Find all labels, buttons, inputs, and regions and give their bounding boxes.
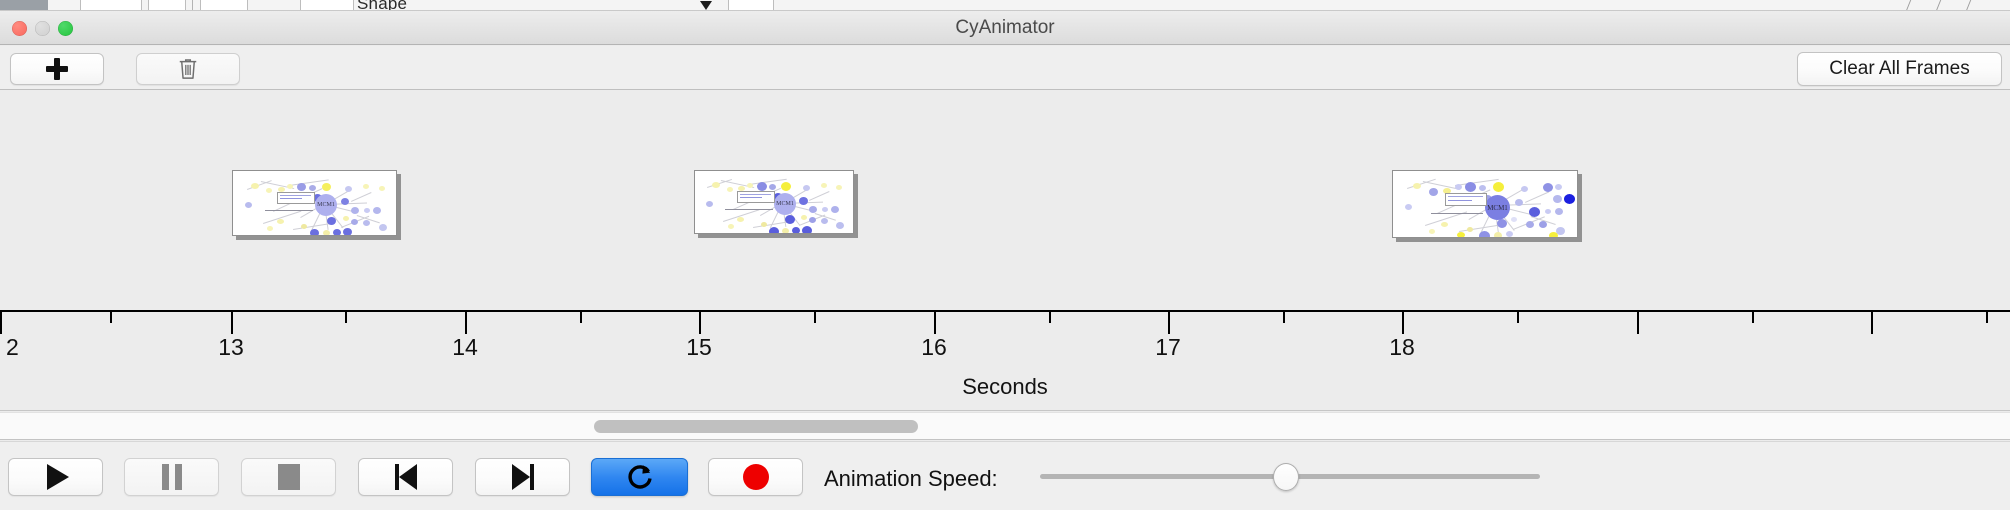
scrollbar-thumb[interactable] xyxy=(594,420,918,433)
frame-thumbnail-network-2: MCM1 xyxy=(695,171,853,233)
axis-tick-major xyxy=(699,312,701,334)
stop-button[interactable] xyxy=(241,458,336,496)
record-icon xyxy=(743,464,769,490)
axis-title: Seconds xyxy=(0,374,2010,400)
timeline-frame-1[interactable]: MCM1 xyxy=(232,170,397,236)
skip-forward-icon xyxy=(512,464,534,490)
axis-tick-minor xyxy=(1283,312,1285,323)
pause-button[interactable] xyxy=(124,458,219,496)
frame-toolbar: Clear All Frames xyxy=(0,46,2010,90)
playback-control-bar: Animation Speed: xyxy=(0,441,2010,510)
axis-tick-minor xyxy=(814,312,816,323)
background-window-label: Shape xyxy=(357,0,407,11)
animation-speed-slider-thumb[interactable] xyxy=(1273,463,1299,491)
skip-forward-button[interactable] xyxy=(475,458,570,496)
axis-tick-major xyxy=(1871,312,1873,334)
skip-back-icon xyxy=(395,464,417,490)
pause-icon xyxy=(162,464,182,490)
trash-icon xyxy=(177,57,199,81)
axis-tick-minor xyxy=(110,312,112,323)
timeline-frame-2[interactable]: MCM1 xyxy=(694,170,854,234)
timeline-frame-3[interactable]: MCM1 xyxy=(1392,170,1578,238)
animation-speed-label: Animation Speed: xyxy=(824,466,998,492)
axis-tick-minor xyxy=(1049,312,1051,323)
timeline-axis xyxy=(0,310,2010,312)
axis-tick-major xyxy=(1402,312,1404,334)
background-window-strip: Shape xyxy=(0,0,2010,11)
hub-node-mcm1-3: MCM1 xyxy=(1485,195,1510,220)
axis-tick-major xyxy=(934,312,936,334)
axis-tick-label: 2 xyxy=(6,334,19,361)
delete-frame-button[interactable] xyxy=(136,53,240,85)
hub-node-mcm1-2: MCM1 xyxy=(774,193,796,215)
play-button[interactable] xyxy=(8,458,103,496)
frame-thumbnail-network-1: MCM1 xyxy=(233,171,396,235)
axis-tick-major xyxy=(231,312,233,334)
clear-all-frames-label: Clear All Frames xyxy=(1829,58,1969,80)
timeline-panel[interactable]: MCM1 xyxy=(0,91,2010,411)
stop-icon xyxy=(278,464,300,490)
axis-tick-label: 15 xyxy=(686,334,712,361)
axis-tick-label: 17 xyxy=(1155,334,1181,361)
axis-tick-minor xyxy=(345,312,347,323)
play-icon xyxy=(47,464,69,490)
axis-tick-minor xyxy=(1752,312,1754,323)
timeline-scrollbar[interactable] xyxy=(0,412,2010,440)
cyanimator-window: Shape CyAnimator Clear All Fr xyxy=(0,0,2010,510)
axis-tick-major xyxy=(1168,312,1170,334)
axis-tick-minor xyxy=(1517,312,1519,323)
axis-tick-minor xyxy=(1986,312,1988,323)
axis-tick-label: 16 xyxy=(921,334,947,361)
axis-tick-major xyxy=(465,312,467,334)
loop-button[interactable] xyxy=(591,458,688,496)
axis-tick-label: 13 xyxy=(218,334,244,361)
add-frame-button[interactable] xyxy=(10,53,104,85)
axis-tick-major xyxy=(1637,312,1639,334)
axis-tick-label: 18 xyxy=(1389,334,1415,361)
plus-icon xyxy=(46,58,68,80)
loop-icon xyxy=(626,462,654,492)
title-bar: CyAnimator xyxy=(0,11,2010,45)
axis-tick-major xyxy=(0,312,2,334)
window-title: CyAnimator xyxy=(0,17,2010,39)
frame-thumbnail-network-3: MCM1 xyxy=(1393,171,1577,237)
axis-tick-label: 14 xyxy=(452,334,478,361)
clear-all-frames-button[interactable]: Clear All Frames xyxy=(1797,52,2002,86)
hub-node-mcm1-1: MCM1 xyxy=(315,194,337,216)
axis-tick-minor xyxy=(580,312,582,323)
skip-back-button[interactable] xyxy=(358,458,453,496)
record-button[interactable] xyxy=(708,458,803,496)
